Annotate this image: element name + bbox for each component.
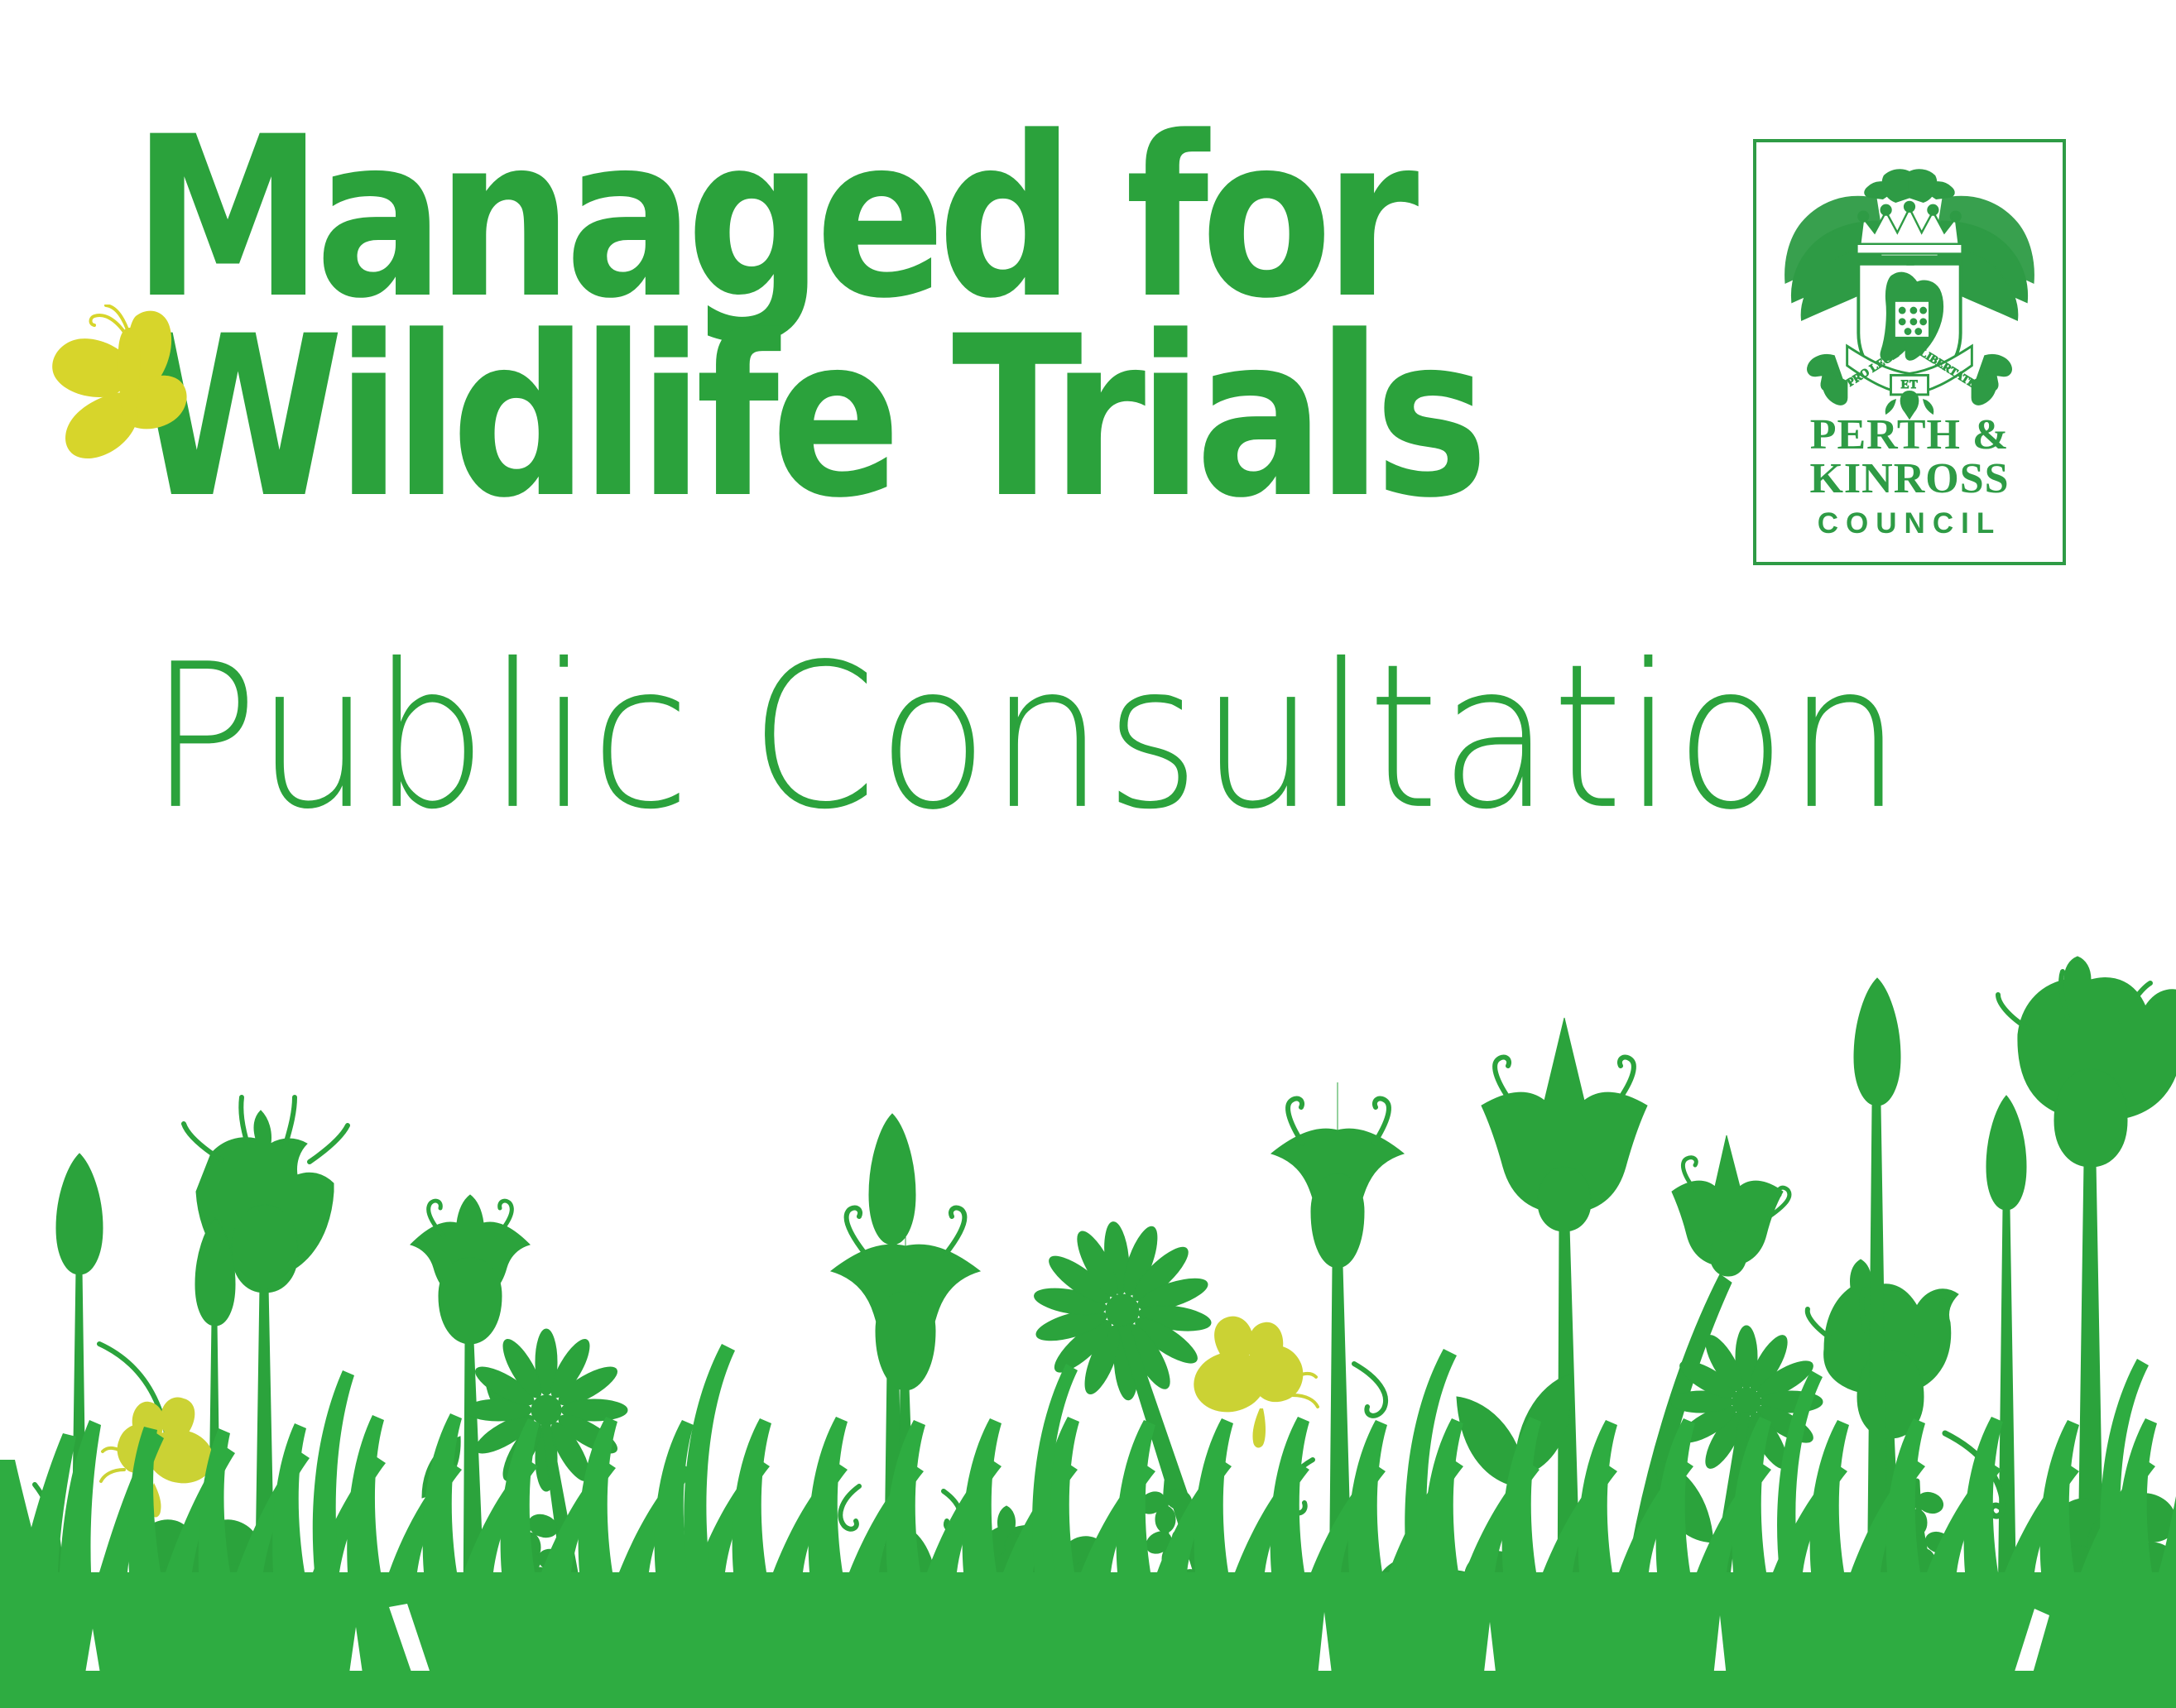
crest-wordmark: PERTH & KINROSS COUNCIL [1756, 413, 2063, 540]
wildflower-meadow-illustration [0, 880, 2176, 1708]
butterfly-icon [43, 305, 217, 462]
crest-motto: ET [1901, 378, 1919, 391]
perth-kinross-council-logo: ET PRO LEGE LIBERTATE PERTH & KINROSS CO… [1753, 139, 2066, 565]
grass-band [0, 1344, 2176, 1708]
header-section: Managed for Wildlife Trials Public Consu… [0, 0, 2176, 902]
page-title-line-2: Wildlife Trials [132, 315, 1642, 521]
page-subtitle: Public Consultation [149, 637, 1903, 837]
crest-line-kinross: KINROSS [1756, 457, 2063, 501]
crest-line-perth: PERTH & [1756, 413, 2063, 457]
title-block: Managed for Wildlife Trials [132, 116, 1705, 521]
poster-canvas: Managed for Wildlife Trials Public Consu… [0, 0, 2176, 1708]
crest-line-council: COUNCIL [1756, 507, 2063, 540]
